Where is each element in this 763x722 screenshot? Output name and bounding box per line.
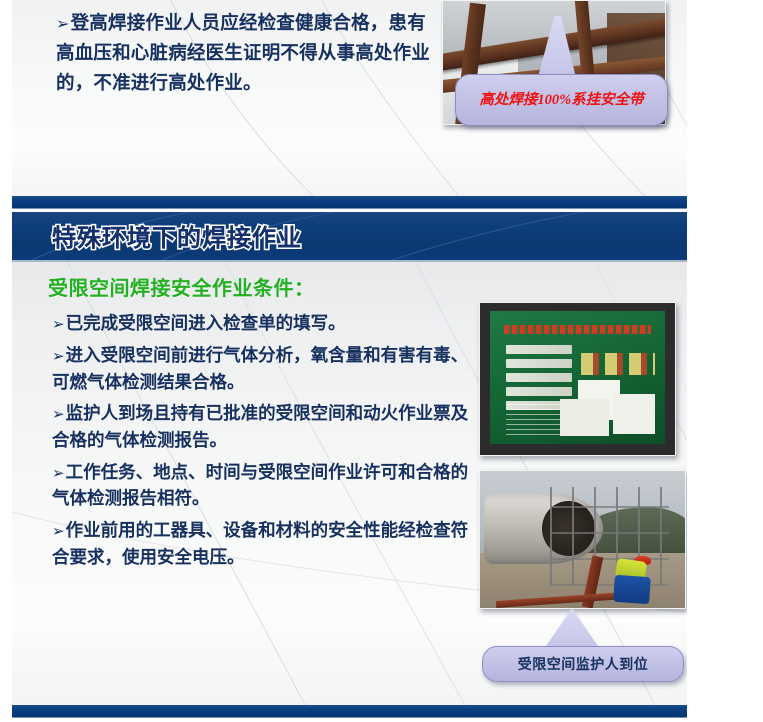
list-item: ➢作业前用的工器具、设备和材料的安全性能经检查符合要求，使用安全电压。 [52,517,477,570]
slide-high-altitude-welding: ➢登高焊接作业人员应经检查健康合格，患有高血压和心脏病经医生证明不得从事高处作业… [12,0,687,209]
photo-board-field-row [506,359,573,368]
list-item-text: 监护人到场且持有已批准的受限空间和动火作业票及合格的气体检测报告。 [52,403,468,450]
list-item-text: 已完成受限空间进入检查单的填写。 [66,313,346,333]
section-heading-conditions: 受限空间焊接安全作业条件： [48,272,315,301]
list-item: ➢已完成受限空间进入检查单的填写。 [52,310,477,337]
list-item-text: 工作任务、地点、时间与受限空间作业许可和合格的气体检测报告相符。 [52,462,468,509]
slides-page: ➢登高焊接作业人员应经检查健康合格，患有高血压和心脏病经医生证明不得从事高处作业… [0,0,763,722]
callout-text: 高处焊接100%系挂安全带 [455,74,668,126]
conditions-bullet-list: ➢已完成受限空间进入检查单的填写。 ➢进入受限空间前进行气体分析，氧含量和有害有… [52,310,477,575]
photo-confined-space-board [479,302,676,456]
photo-board-fields [506,345,573,401]
slide-special-environment-welding: 特殊环境下的焊接作业 特殊环境下的焊接作业 受限空间焊接安全作业条件： ➢已完成… [12,212,687,718]
page-title: 特殊环境下的焊接作业 [52,218,302,253]
bullet-marker-icon: ➢ [52,523,65,540]
bullet-marker-icon: ➢ [52,316,65,333]
bullet-marker-icon: ➢ [52,406,65,423]
callout-high-altitude-harness: 高处焊接100%系挂安全带 [455,16,668,126]
callout-pointer-tail [535,16,577,82]
slide2-title-band: 特殊环境下的焊接作业 特殊环境下的焊接作业 [12,212,687,262]
photo-board-sheet [613,394,655,434]
photo-board-legend-text [506,404,566,436]
list-item-text: 作业前用的工器具、设备和材料的安全性能经检查符合要求，使用安全电压。 [52,520,468,567]
bullet-marker-icon: ➢ [56,16,70,33]
photo-worker [611,556,660,603]
photo-board-title-strip [504,325,651,334]
slide1-body: ➢登高焊接作业人员应经检查健康合格，患有高血压和心脏病经医生证明不得从事高处作业… [12,0,687,209]
photo-board-field-row [506,345,573,354]
photo-board-field-row [506,373,573,382]
slide2-footer-bar [12,705,687,718]
photo-board-surface [490,311,666,445]
slide1-footer-bar [12,196,687,209]
bullet-marker-icon: ➢ [52,348,65,365]
list-item: ➢进入受限空间前进行气体分析，氧含量和有害有毒、可燃气体检测结果合格。 [52,342,477,395]
slide1-paragraph-text: 登高焊接作业人员应经检查健康合格，患有高血压和心脏病经医生证明不得从事高处作业的… [56,12,430,93]
bullet-marker-icon: ➢ [52,465,65,482]
photo-board-sheet [560,399,609,436]
photo-worker-legs [613,574,651,603]
callout-confined-space-attendant: 受限空间监护人到位 [482,608,682,680]
list-item: ➢工作任务、地点、时间与受限空间作业许可和合格的气体检测报告相符。 [52,459,477,512]
slide1-paragraph: ➢登高焊接作业人员应经检查健康合格，患有高血压和心脏病经医生证明不得从事高处作业… [56,8,436,98]
callout-text: 受限空间监护人到位 [482,646,684,682]
photo-confined-space-worksite [479,470,686,609]
list-item: ➢监护人到场且持有已批准的受限空间和动火作业票及合格的气体检测报告。 [52,400,477,453]
photo-board-badge-cards [581,353,655,374]
list-item-text: 进入受限空间前进行气体分析，氧含量和有害有毒、可燃气体检测结果合格。 [52,345,468,392]
photo-board-field-row [506,387,573,396]
